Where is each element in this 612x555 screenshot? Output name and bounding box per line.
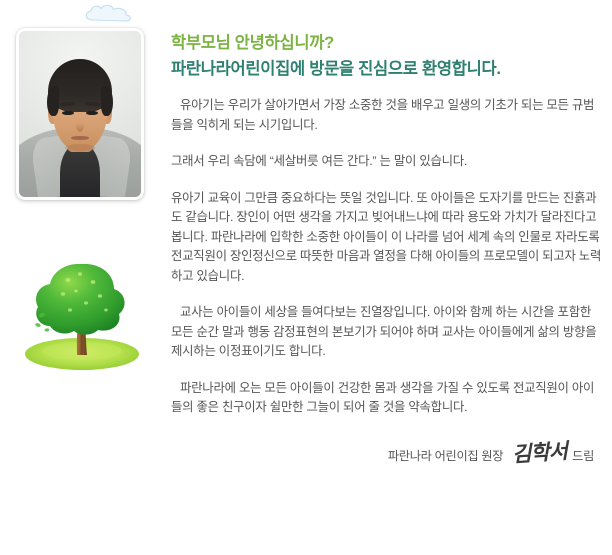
letter-paragraph: 유아기는 우리가 살아가면서 가장 소중한 것을 배우고 일생의 기초가 되는 … [171,96,603,135]
letter-paragraph: 그래서 우리 속담에 “세살버릇 여든 간다.” 는 말이 있습니다. [171,152,603,172]
letter-paragraph: 교사는 아이들이 세상을 들여다보는 진열장입니다. 아이와 함께 하는 시간을… [171,303,603,362]
cloud-icon [82,3,134,25]
signature-suffix: 드림 [572,446,594,464]
letter-paragraph: 파란나라에 오는 모든 아이들이 건강한 몸과 생각을 가질 수 있도록 전교직… [171,379,603,418]
signature-block: 파란나라 어린이집 원장 김학서 드림 [388,437,594,467]
greeting-letter: 학부모님 안녕하십니까? 파란나라어린이집에 방문을 진심으로 환영합니다. 유… [171,0,603,555]
signature-title: 파란나라 어린이집 원장 [388,446,503,464]
mouth-shape [71,136,88,140]
eye-right [86,111,98,116]
hair-side-left [47,86,59,116]
chin-shadow [65,144,94,152]
heading-line-1: 학부모님 안녕하십니까? [171,30,603,56]
portrait-photo [19,31,141,197]
page-title: 학부모님 안녕하십니까? 파란나라어린이집에 방문을 진심으로 환영합니다. [171,0,603,82]
signature-name: 김학서 [502,435,573,470]
letter-paragraph: 유아기 교육이 그만큼 중요하다는 뜻일 것입니다. 또 아이들은 도자기를 만… [171,189,603,287]
director-photo-frame [16,28,144,200]
hair-side-right [101,86,113,116]
left-media-column [0,0,160,555]
heading-line-2: 파란나라어린이집에 방문을 진심으로 환영합니다. [171,56,603,82]
tree-icon [8,258,156,378]
letter-body: 유아기는 우리가 살아가면서 가장 소중한 것을 배우고 일생의 기초가 되는 … [171,82,603,418]
